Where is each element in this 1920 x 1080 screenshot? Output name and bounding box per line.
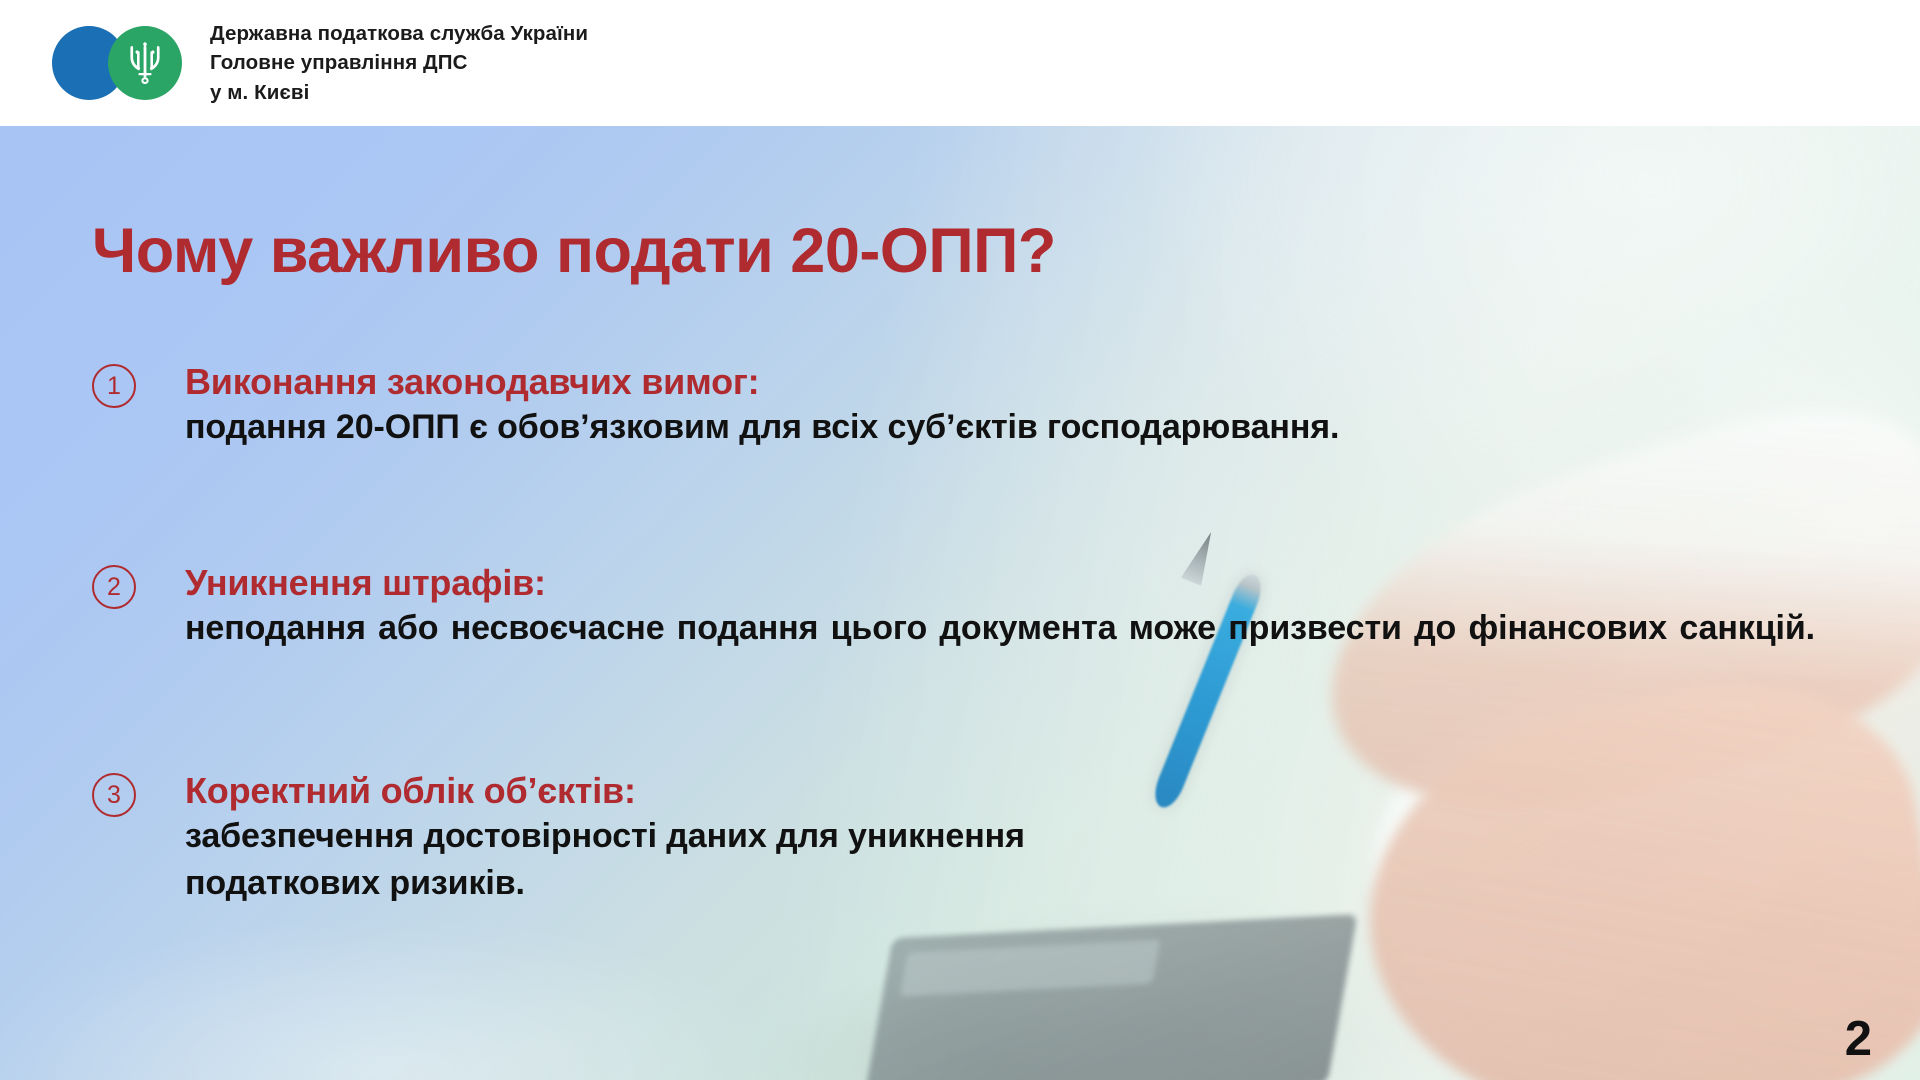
org-line-3: у м. Києві [210,78,588,107]
list-item-heading: Уникнення штрафів: [185,563,1832,603]
page-number: 2 [1845,1015,1872,1064]
list-item: 2 Уникнення штрафів: неподання або несво… [92,563,1832,693]
presentation-slide: Державна податкова служба України Головн… [0,0,1920,1080]
slide-header: Державна податкова служба України Головн… [0,0,1920,126]
slide-content: Чому важливо подати 20-ОПП? 1 Виконання … [0,126,1920,1080]
list-item: 1 Виконання законодавчих вимог: подання … [92,362,1832,449]
organization-name: Державна податкова служба України Головн… [210,19,588,106]
bullet-number-2: 2 [92,565,136,609]
list-item-heading: Виконання законодавчих вимог: [185,362,1832,402]
organization-logo [52,26,182,100]
slide-background: Чому важливо подати 20-ОПП? 1 Виконання … [0,126,1920,1080]
list-item-text-line-1: забезпечення достовірності даних для уни… [185,815,1832,858]
list-item-body: Виконання законодавчих вимог: подання 20… [185,362,1832,449]
list-item: 3 Коректний облік об’єктів: забезпечення… [92,771,1832,905]
list-item-heading: Коректний облік об’єктів: [185,771,1832,811]
slide-title: Чому важливо подати 20-ОПП? [92,220,1056,283]
list-item-text: неподання або несвоєчасне подання цього … [185,607,1815,693]
list-item-text-line-2: податкових ризиків. [185,862,1832,905]
list-item-body: Коректний облік об’єктів: забезпечення д… [185,771,1832,905]
bullet-number-1: 1 [92,364,136,408]
org-line-2: Головне управління ДПС [210,48,588,77]
bullet-number-3: 3 [92,773,136,817]
list-item-body: Уникнення штрафів: неподання або несвоєч… [185,563,1832,693]
list-item-text: подання 20-ОПП є обов’язковим для всіх с… [185,406,1832,449]
ukraine-trident-icon [126,40,164,86]
org-line-1: Державна податкова служба України [210,19,588,48]
